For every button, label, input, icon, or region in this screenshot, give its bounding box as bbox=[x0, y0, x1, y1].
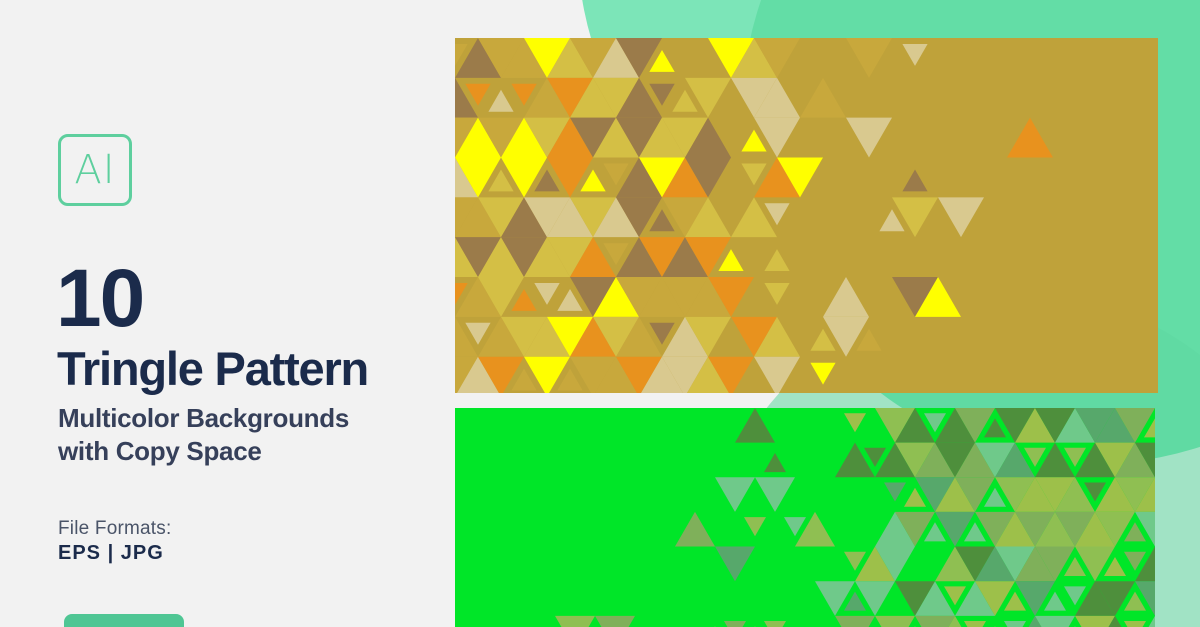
subtitle-line-1: Multicolor Backgrounds bbox=[58, 402, 349, 435]
poster-canvas: AI 10 Tringle Pattern Multicolor Backgro… bbox=[0, 0, 1200, 627]
subtitle-line-2: with Copy Space bbox=[58, 435, 349, 468]
green-triangle-mosaic bbox=[455, 408, 1155, 627]
page-subtitle: Multicolor Backgrounds with Copy Space bbox=[58, 402, 349, 467]
cta-button[interactable] bbox=[64, 614, 184, 627]
ai-format-badge: AI bbox=[58, 134, 132, 206]
item-count: 10 bbox=[56, 258, 143, 340]
file-formats-value: EPS | JPG bbox=[58, 542, 164, 565]
info-column: AI 10 Tringle Pattern Multicolor Backgro… bbox=[0, 0, 455, 627]
ai-badge-label: AI bbox=[74, 150, 115, 190]
file-formats-label: File Formats: bbox=[58, 518, 171, 540]
preview-green-triangle-pattern[interactable] bbox=[455, 408, 1155, 627]
page-title: Tringle Pattern bbox=[57, 345, 368, 392]
preview-yellow-triangle-pattern[interactable] bbox=[455, 38, 1158, 393]
yellow-triangle-mosaic bbox=[455, 38, 1158, 393]
